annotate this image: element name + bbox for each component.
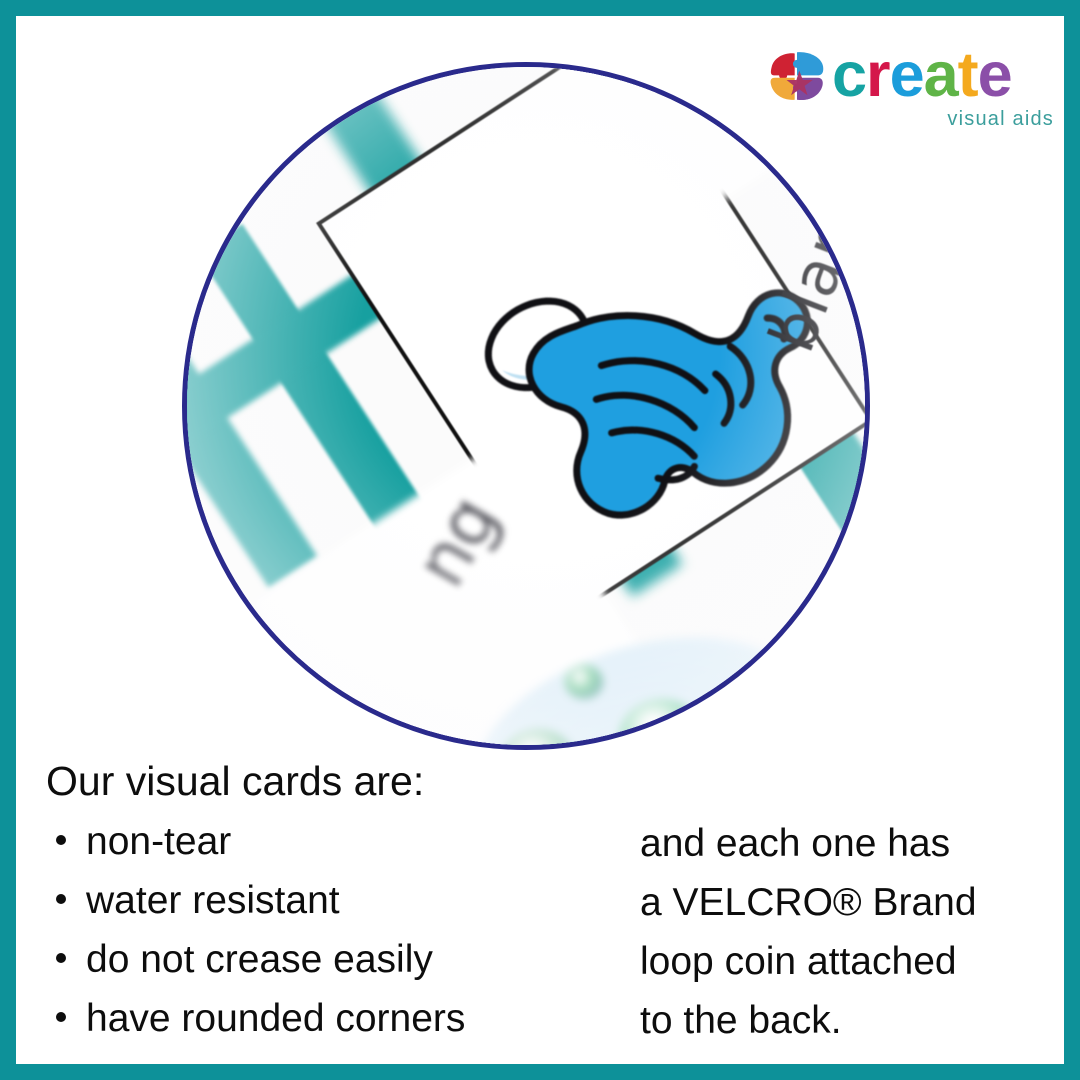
- visual-cards-photo: blanket ng: [187, 67, 865, 745]
- bubble: [565, 665, 603, 699]
- bubbles-illustration: [437, 587, 837, 745]
- product-image-frame: create visual aids: [16, 16, 1064, 1064]
- velcro-note-line: loop coin attached: [640, 940, 957, 984]
- velcro-note-line: a VELCRO® Brand: [640, 881, 977, 925]
- bullet-label: water resistant: [86, 879, 340, 922]
- brand-tagline: visual aids: [947, 108, 1054, 131]
- bullet-dot-icon: [56, 835, 66, 845]
- bullet-item: do not crease easily: [42, 938, 433, 982]
- marketing-copy: Our visual cards are: non-tear water res…: [16, 742, 1064, 1064]
- bullet-dot-icon: [56, 894, 66, 904]
- bullet-dot-icon: [56, 953, 66, 963]
- wordmark-letter-4: a: [924, 36, 958, 114]
- bullet-label: do not crease easily: [86, 938, 433, 981]
- velcro-note-line: to the back.: [640, 999, 842, 1043]
- bullet-item: non-tear: [42, 820, 231, 864]
- bullet-item: water resistant: [42, 879, 340, 923]
- wordmark-letter-5: t: [958, 36, 978, 114]
- magnifier-circle: blanket ng: [182, 62, 870, 750]
- bullet-label: have rounded corners: [86, 997, 465, 1040]
- bullet-label: non-tear: [86, 820, 231, 863]
- wordmark-letter-3: e: [890, 36, 924, 114]
- velcro-note-line: and each one has: [640, 822, 950, 866]
- copy-heading: Our visual cards are:: [46, 758, 424, 805]
- bullet-item: have rounded corners: [42, 997, 465, 1041]
- bullet-dot-icon: [56, 1012, 66, 1022]
- wordmark-letter-6: e: [978, 36, 1012, 114]
- wordmark-letter-2: r: [866, 36, 890, 114]
